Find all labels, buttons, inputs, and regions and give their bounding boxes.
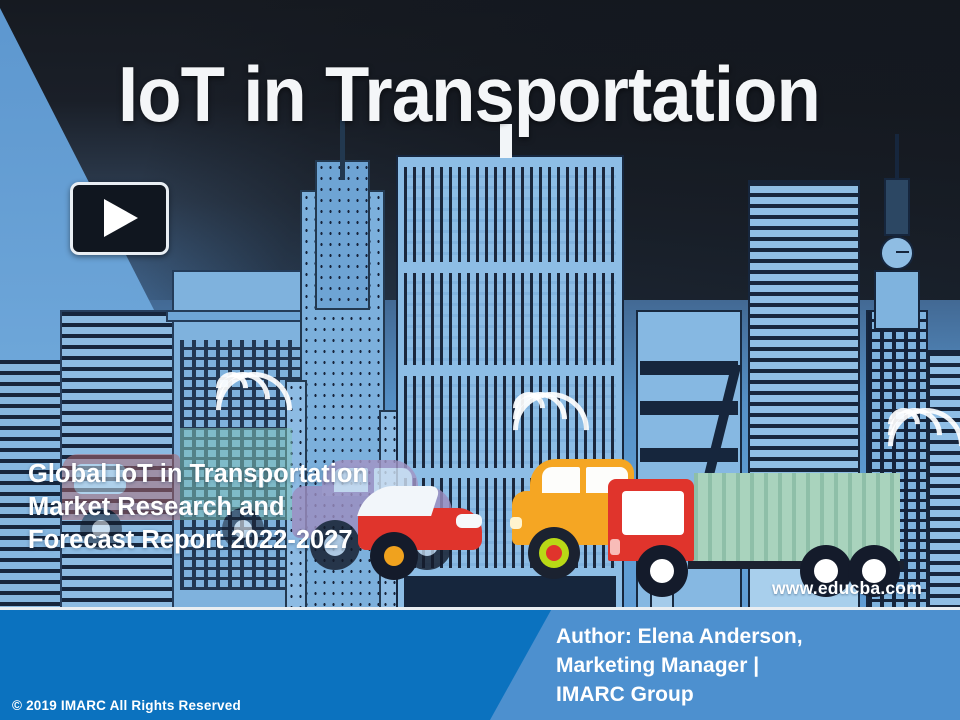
- report-headline: Global IoT in Transportation Market Rese…: [28, 458, 588, 557]
- headline-line-2: Market Research and: [28, 491, 588, 524]
- building-clock-tower-mid: [874, 270, 920, 330]
- building-tower-mid: [315, 160, 370, 310]
- presentation-slide: IoT in Transportation Global IoT in Tran…: [0, 0, 960, 720]
- author-line-1: Author: Elena Anderson,: [556, 622, 956, 651]
- building-central-windows-a: [404, 167, 616, 262]
- play-icon: [104, 199, 138, 237]
- copyright-text: © 2019 IMARC All Rights Reserved: [12, 698, 241, 713]
- building-clock-tower-top: [884, 178, 910, 236]
- author-line-2: Marketing Manager |: [556, 651, 956, 680]
- educba-watermark: www.educba.com: [772, 578, 922, 599]
- headline-line-1: Global IoT in Transportation: [28, 458, 588, 491]
- headline-line-3: Forecast Report 2022-2027: [28, 524, 588, 557]
- vehicle-truck-container: [608, 465, 948, 595]
- building-clock-face: [880, 236, 914, 270]
- building-clock-hand: [896, 251, 909, 253]
- building-classical-cornice: [166, 310, 313, 322]
- page-title: IoT in Transportation: [118, 50, 825, 140]
- building-central-windows-b: [404, 273, 616, 365]
- fire-escape-balcony-1: [640, 361, 738, 375]
- author-block: Author: Elena Anderson, Marketing Manage…: [556, 622, 956, 709]
- building-clock-tower-spire: [895, 134, 899, 180]
- author-line-3: IMARC Group: [556, 680, 956, 709]
- play-video-button[interactable]: [70, 182, 169, 255]
